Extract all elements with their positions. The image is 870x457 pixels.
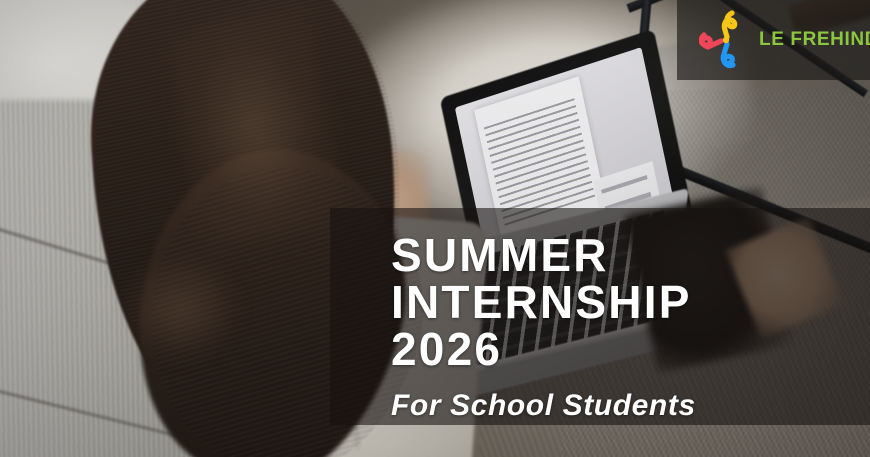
brand-name: LE FREHINDI [759,29,870,51]
hair-sheen-lower [115,255,245,365]
headline-block: SUMMER INTERNSHIP 2026 For School Studen… [391,232,861,423]
headline-line-2: INTERNSHIP [391,279,861,326]
promo-banner: SUMMER INTERNSHIP 2026 For School Studen… [0,0,870,457]
headline-line-3: 2026 [391,326,861,373]
logo-badge[interactable]: LE FREHINDI [677,0,870,80]
subheadline: For School Students [391,389,861,423]
three-loop-ribbon-icon [699,10,751,70]
headline-line-1: SUMMER [391,232,861,279]
